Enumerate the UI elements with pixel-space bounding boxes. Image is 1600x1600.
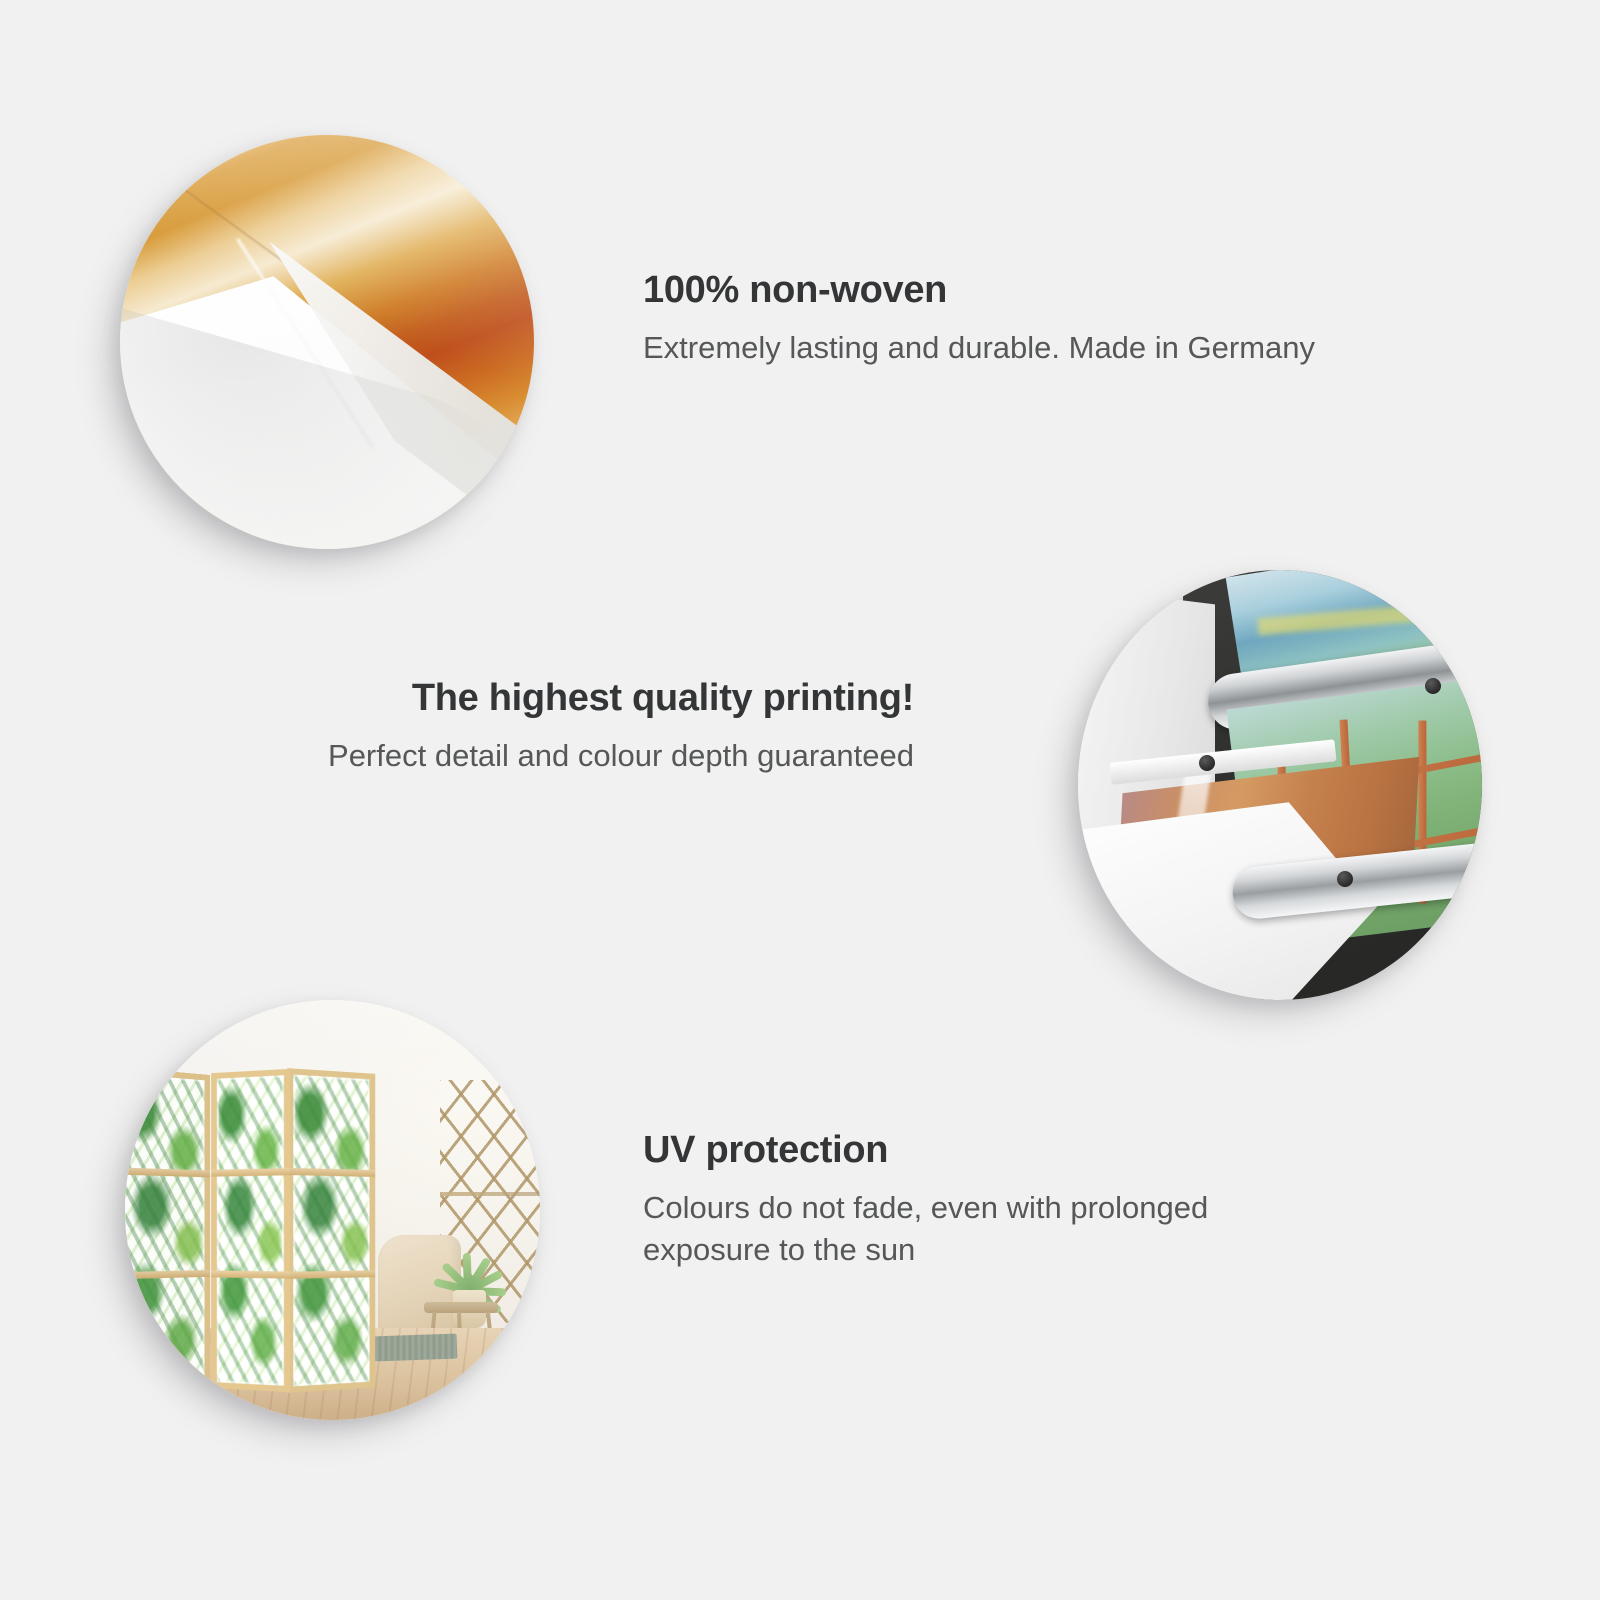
divider-panel <box>211 1069 289 1392</box>
feature-text-non-woven: 100% non-woven Extremely lasting and dur… <box>643 268 1343 369</box>
divider-panel <box>125 1067 209 1394</box>
living-room-scene <box>125 1000 540 1420</box>
tropical-room-divider-photo <box>125 1000 540 1420</box>
printing-press-scene <box>1078 570 1482 1000</box>
feature-subline-non-woven: Extremely lasting and durable. Made in G… <box>643 327 1343 369</box>
folding-room-divider <box>125 1071 382 1390</box>
feature-headline-non-woven: 100% non-woven <box>643 268 1343 313</box>
feature-text-printing: The highest quality printing! Perfect de… <box>300 676 914 777</box>
feature-headline-printing: The highest quality printing! <box>300 676 914 721</box>
infographic-canvas: 100% non-woven Extremely lasting and dur… <box>0 0 1600 1600</box>
feature-subline-uv-protection: Colours do not fade, even with prolonged… <box>643 1187 1263 1271</box>
wallpaper-peel-scene <box>120 135 534 549</box>
feature-headline-uv-protection: UV protection <box>643 1128 1263 1173</box>
printing-press-photo <box>1078 570 1482 1000</box>
feature-subline-printing: Perfect detail and colour depth guarante… <box>300 735 914 777</box>
press-adjust-knob <box>1199 755 1215 771</box>
roller-knob-lower <box>1337 871 1353 887</box>
feature-text-uv-protection: UV protection Colours do not fade, even … <box>643 1128 1263 1271</box>
divider-panel <box>287 1068 375 1393</box>
wallpaper-peel-photo <box>120 135 534 549</box>
roller-knob-upper <box>1425 678 1441 694</box>
